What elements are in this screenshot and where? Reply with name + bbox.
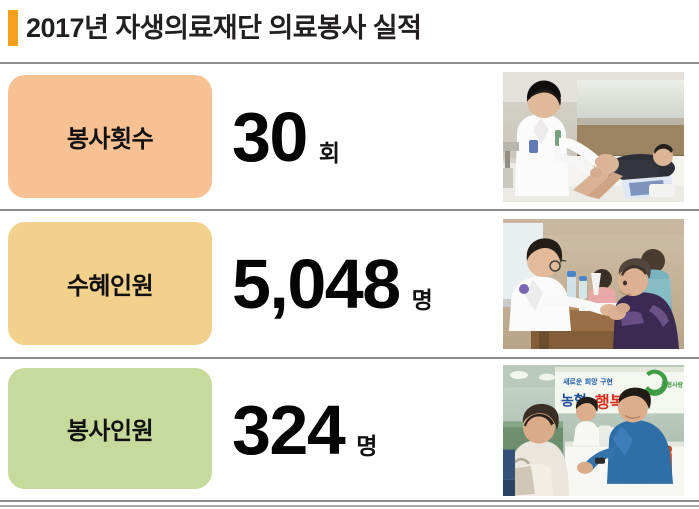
stat-value-number: 5,048 (232, 249, 400, 319)
stat-label-box: 수혜인원 (8, 222, 212, 345)
stat-label-box: 봉사인원 (8, 368, 212, 489)
stat-row: 봉사횟수 30 회 (0, 64, 699, 209)
stat-value-number: 324 (232, 395, 344, 465)
title-accent-bar (8, 10, 18, 46)
stat-value-unit: 명 (412, 289, 433, 312)
svg-text:농협사랑: 농협사랑 (661, 381, 684, 389)
header: 2017년 자생의료재단 의료봉사 실적 (0, 0, 699, 63)
stat-value-group: 30 회 (232, 64, 340, 209)
divider-bottom-secondary (0, 505, 699, 507)
stat-label-text: 수혜인원 (67, 266, 153, 301)
doctor-consulting-elderly-woman-photo (503, 219, 684, 349)
stat-value-unit: 명 (356, 435, 377, 458)
stat-row: 봉사인원 324 명 새로운 희망 구현 농 (0, 359, 699, 500)
stat-label-text: 봉사횟수 (67, 119, 153, 154)
page-title: 2017년 자생의료재단 의료봉사 실적 (26, 9, 422, 47)
volunteer-health-screening-booth-photo: 새로운 희망 구현 농협 행복 농협사랑 (503, 365, 684, 496)
stat-value-group: 5,048 명 (232, 211, 433, 357)
stat-label-text: 봉사인원 (67, 411, 153, 446)
divider-bottom (0, 500, 699, 502)
stat-value-group: 324 명 (232, 359, 377, 500)
svg-text:새로운 희망 구현: 새로운 희망 구현 (563, 377, 613, 386)
stat-value-unit: 회 (319, 142, 340, 165)
stat-value-number: 30 (232, 102, 307, 172)
stat-label-box: 봉사횟수 (8, 75, 212, 198)
doctor-treating-patient-knee-photo (503, 72, 684, 202)
stat-row: 수혜인원 5,048 명 (0, 211, 699, 357)
